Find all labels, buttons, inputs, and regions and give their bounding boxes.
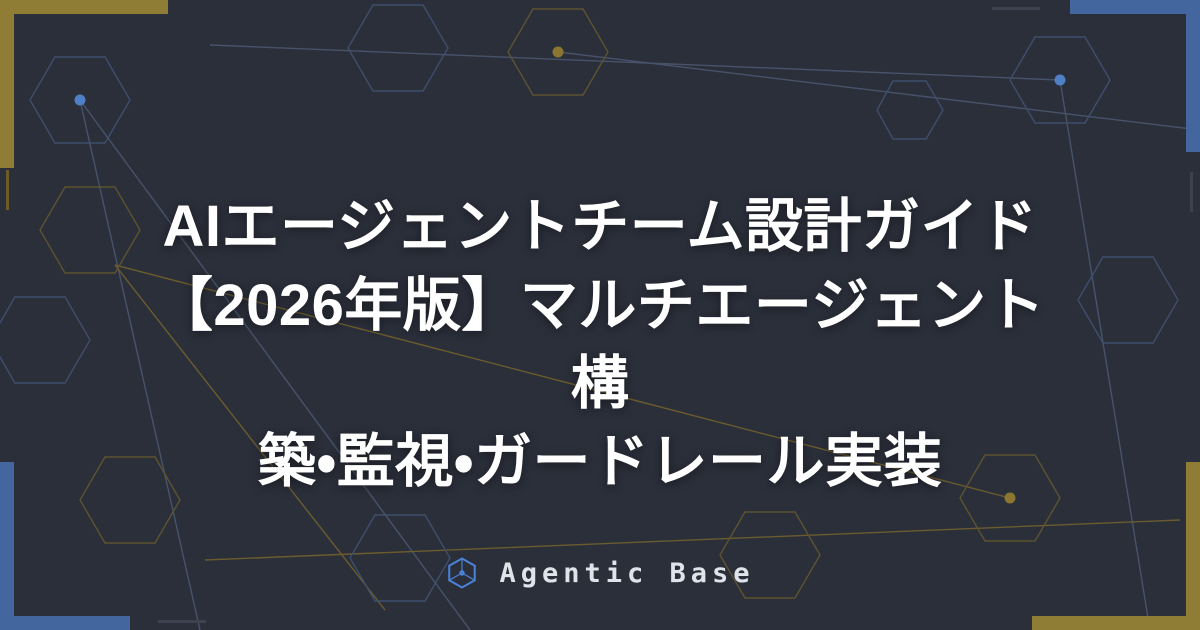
brand-footer: Agentic Base bbox=[0, 556, 1200, 590]
page-title: AIエージェントチーム設計ガイド 【2026年版】マルチエージェント構 築・監視… bbox=[130, 188, 1070, 501]
brand-name: Agentic Base bbox=[499, 558, 754, 589]
title-line-3: 築・監視・ガードレール実装 bbox=[258, 429, 942, 494]
content-area: AIエージェントチーム設計ガイド 【2026年版】マルチエージェント構 築・監視… bbox=[0, 0, 1200, 630]
title-line-1: AIエージェントチーム設計ガイド bbox=[162, 194, 1037, 259]
title-line-2: 【2026年版】マルチエージェント構 bbox=[155, 273, 1045, 416]
hexagon-node-icon bbox=[445, 556, 479, 590]
og-card: AIエージェントチーム設計ガイド 【2026年版】マルチエージェント構 築・監視… bbox=[0, 0, 1200, 630]
